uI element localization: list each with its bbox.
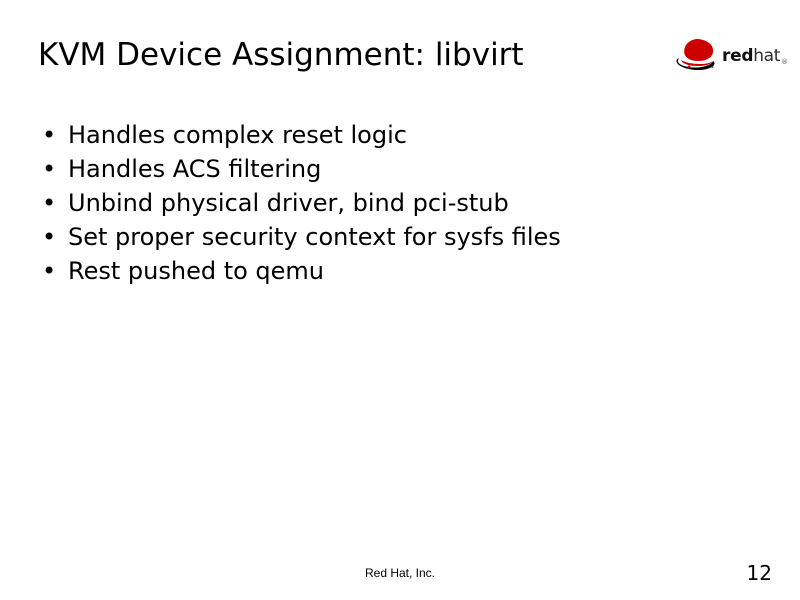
footer-organization: Red Hat, Inc.	[0, 566, 800, 580]
bullet-marker-icon: •	[38, 220, 68, 254]
bullet-list: • Handles complex reset logic • Handles …	[38, 118, 738, 288]
bullet-marker-icon: •	[38, 254, 68, 288]
bullet-marker-icon: •	[38, 118, 68, 152]
list-item: • Set proper security context for sysfs …	[38, 220, 738, 254]
redhat-shadowman-icon	[676, 38, 716, 72]
bullet-text: Set proper security context for sysfs fi…	[68, 220, 738, 254]
redhat-logo: redhat®	[676, 34, 780, 76]
slide-page-number: 12	[747, 561, 772, 585]
redhat-wordmark: redhat®	[722, 48, 787, 65]
page-title: KVM Device Assignment: libvirt	[38, 38, 638, 72]
bullet-text: Unbind physical driver, bind pci-stub	[68, 186, 738, 220]
logo-trademark: ®	[781, 58, 788, 66]
bullet-marker-icon: •	[38, 152, 68, 186]
bullet-text: Handles ACS filtering	[68, 152, 738, 186]
list-item: • Rest pushed to qemu	[38, 254, 738, 288]
bullet-text: Handles complex reset logic	[68, 118, 738, 152]
logo-word-hat: hat	[753, 46, 780, 66]
slide: KVM Device Assignment: libvirt redhat® •…	[0, 0, 800, 600]
list-item: • Unbind physical driver, bind pci-stub	[38, 186, 738, 220]
list-item: • Handles complex reset logic	[38, 118, 738, 152]
list-item: • Handles ACS filtering	[38, 152, 738, 186]
bullet-marker-icon: •	[38, 186, 68, 220]
bullet-text: Rest pushed to qemu	[68, 254, 738, 288]
logo-word-red: red	[722, 46, 753, 66]
